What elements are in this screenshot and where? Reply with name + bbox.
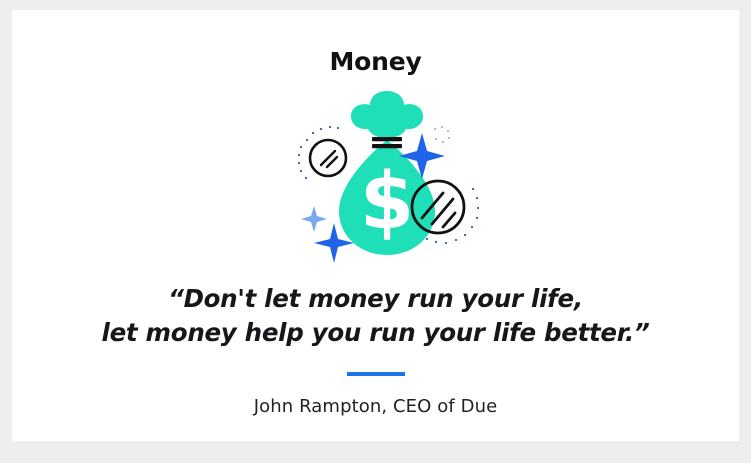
quote-line-2: let money help you run your life better.… [12,316,739,350]
svg-text:$: $ [360,157,414,247]
money-bag-illustration: $ [277,85,497,270]
page-title: Money [12,47,739,76]
divider-rule [347,372,405,376]
slide-canvas: Money [0,0,751,463]
content-card: Money [12,10,739,441]
dot-arc-top-icon [434,126,450,143]
dollar-sign-icon: $ [360,157,414,247]
sparkle-bottom-left-small-icon [301,206,327,232]
quote-line-1: “Don't let money run your life, [12,282,739,316]
bag-top-ruffle-icon [351,91,423,138]
coin-left-icon [310,140,346,176]
quote-attribution: John Rampton, CEO of Due [12,396,739,417]
quote-text: “Don't let money run your life, let mone… [12,282,739,350]
divider-container [12,371,739,376]
